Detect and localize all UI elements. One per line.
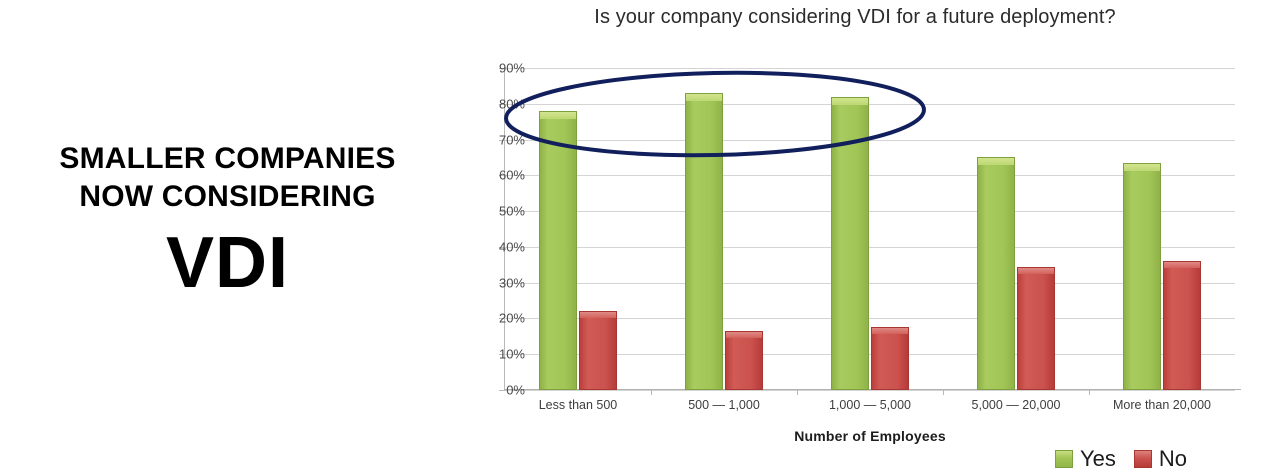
- legend-swatch-no-icon: [1134, 450, 1152, 468]
- x-tickmark: [651, 390, 652, 395]
- chart-title: Is your company considering VDI for a fu…: [455, 6, 1255, 29]
- y-tick-label: 50%: [465, 204, 525, 219]
- x-tick-label: 500 — 1,000: [649, 398, 799, 412]
- x-axis-title: Number of Employees: [505, 428, 1235, 444]
- bar-yes[interactable]: [539, 111, 577, 390]
- legend-label-yes: Yes: [1080, 446, 1116, 472]
- y-tick-label: 0%: [465, 383, 525, 398]
- legend-item-no[interactable]: No: [1134, 446, 1187, 472]
- bar-yes[interactable]: [685, 93, 723, 390]
- y-tick-label: 40%: [465, 239, 525, 254]
- bar-group: [539, 68, 617, 390]
- y-axis-line: [504, 68, 505, 390]
- bar-yes[interactable]: [1123, 163, 1161, 390]
- y-tick-label: 90%: [465, 61, 525, 76]
- legend-swatch-yes-icon: [1055, 450, 1073, 468]
- screenshot-root: SMALLER COMPANIES NOW CONSIDERING VDI Is…: [0, 0, 1267, 475]
- chart-legend: Yes No: [1055, 446, 1187, 472]
- bar-no[interactable]: [1017, 267, 1055, 390]
- bar-group: [977, 68, 1055, 390]
- y-tick-label: 30%: [465, 275, 525, 290]
- legend-item-yes[interactable]: Yes: [1055, 446, 1116, 472]
- gridline: [505, 390, 1235, 391]
- chart-container: Is your company considering VDI for a fu…: [455, 0, 1267, 475]
- x-tick-label: More than 20,000: [1087, 398, 1237, 412]
- x-tickmark: [1089, 390, 1090, 395]
- bar-no[interactable]: [1163, 261, 1201, 390]
- plot-area: [505, 68, 1235, 390]
- headline-line-3: VDI: [0, 222, 455, 304]
- legend-label-no: No: [1159, 446, 1187, 472]
- bar-no[interactable]: [725, 331, 763, 390]
- bar-no[interactable]: [579, 311, 617, 390]
- x-tickmark: [943, 390, 944, 395]
- y-tick-label: 20%: [465, 311, 525, 326]
- headline-block: SMALLER COMPANIES NOW CONSIDERING VDI: [0, 140, 455, 304]
- y-tick-label: 60%: [465, 168, 525, 183]
- bar-no[interactable]: [871, 327, 909, 390]
- headline-line-1: SMALLER COMPANIES: [0, 140, 455, 178]
- headline-line-2: NOW CONSIDERING: [0, 178, 455, 216]
- bar-yes[interactable]: [977, 157, 1015, 390]
- x-tick-label: 1,000 — 5,000: [795, 398, 945, 412]
- y-tick-label: 70%: [465, 132, 525, 147]
- y-tick-label: 10%: [465, 347, 525, 362]
- x-tick-label: Less than 500: [503, 398, 653, 412]
- x-tickmark: [797, 390, 798, 395]
- bar-group: [1123, 68, 1201, 390]
- bar-yes[interactable]: [831, 97, 869, 390]
- bar-group: [685, 68, 763, 390]
- x-tick-label: 5,000 — 20,000: [941, 398, 1091, 412]
- y-tick-label: 80%: [465, 96, 525, 111]
- bar-group: [831, 68, 909, 390]
